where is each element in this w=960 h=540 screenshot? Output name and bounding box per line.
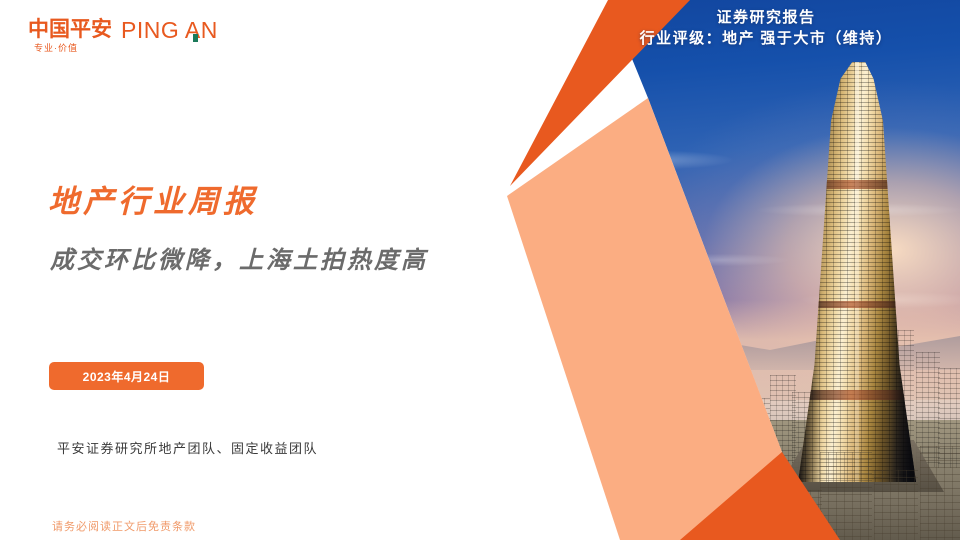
logo-english-name: PING AN: [121, 18, 218, 42]
tower-highlight-spine: [855, 62, 859, 482]
logo-green-accent-icon: [193, 34, 198, 42]
page-subtitle: 成交环比微降，上海土拍热度高: [50, 240, 428, 275]
author-team-label: 平安证券研究所地产团队、固定收益团队: [57, 438, 318, 457]
report-cover-page: 证券研究报告 行业评级：地产 强于大市（维持） 中国平安 PING AN 专业·…: [0, 0, 960, 540]
logo-tagline: 专业·价值: [34, 41, 78, 54]
page-title: 地产行业周报: [48, 176, 258, 221]
disclaimer-notice: 请务必阅读正文后免责条款: [52, 518, 196, 534]
foreground-building: [920, 446, 960, 540]
ping-an-logo: 中国平安 PING AN: [28, 18, 218, 42]
logo-chinese-name: 中国平安: [28, 18, 112, 42]
publication-date-badge: 2023年4月24日: [49, 362, 204, 390]
logo-english-text: PING AN: [121, 17, 218, 43]
foreground-building: [874, 470, 918, 540]
